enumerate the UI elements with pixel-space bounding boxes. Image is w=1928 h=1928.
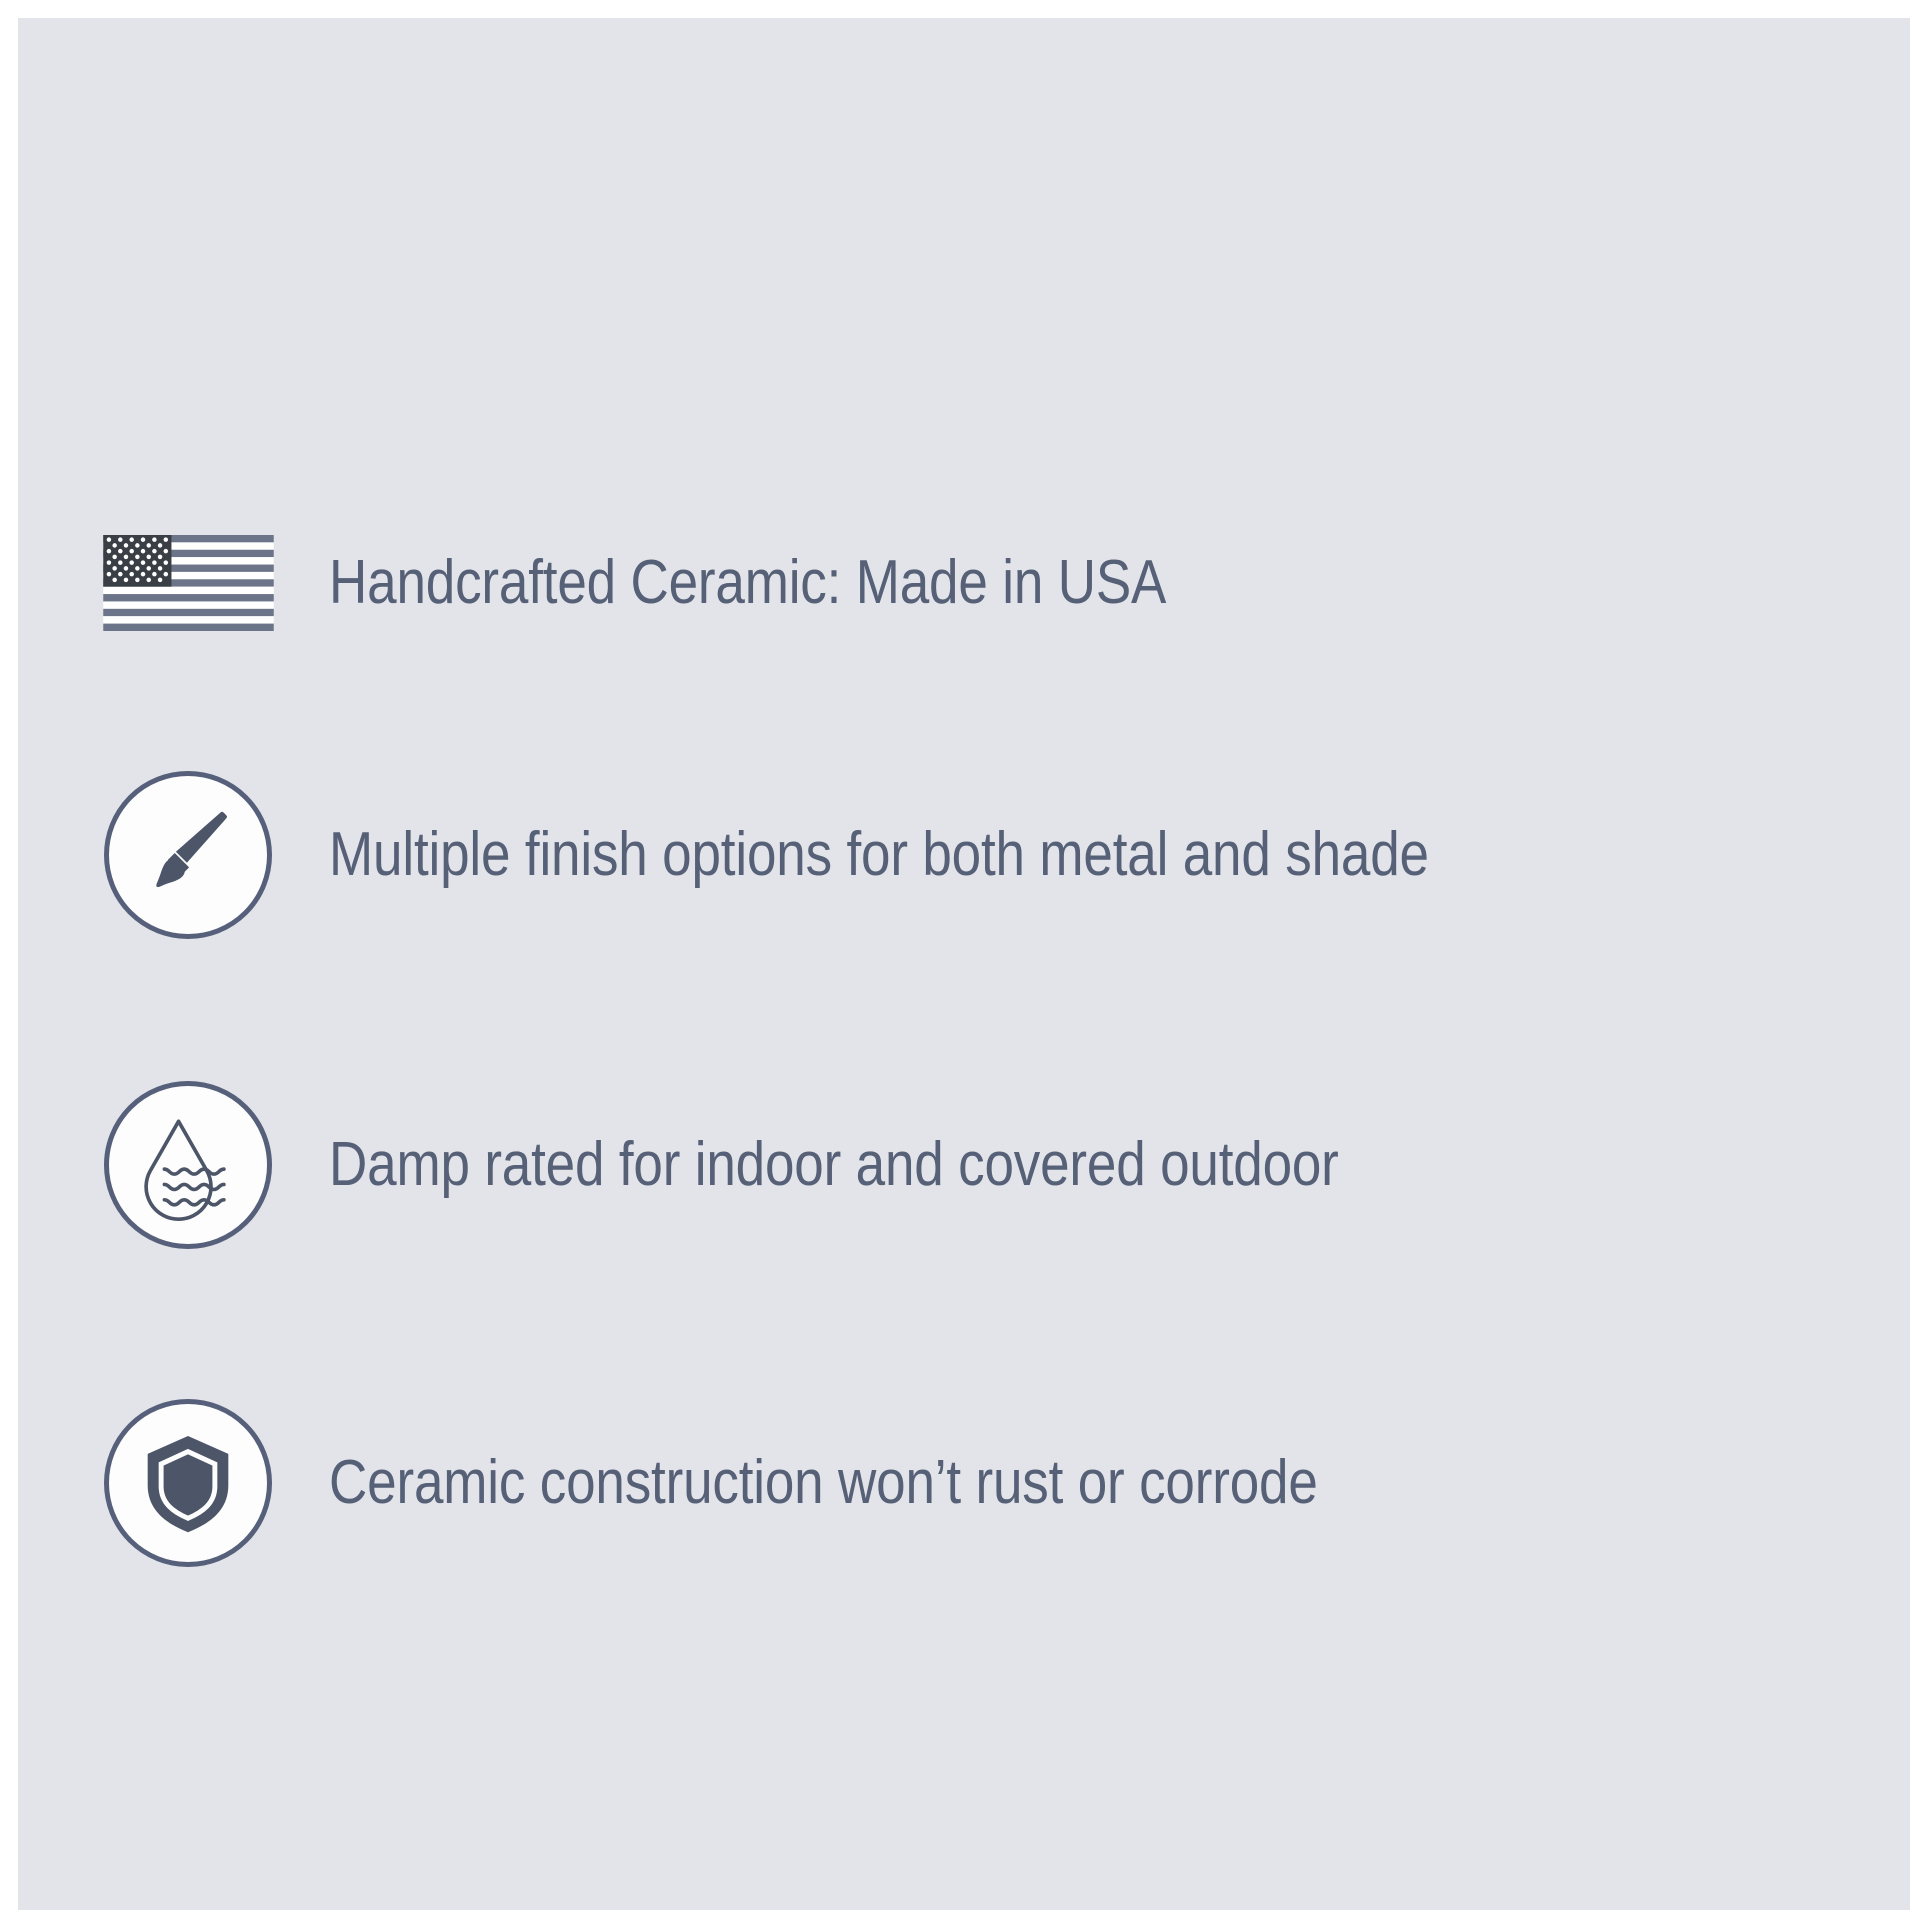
icon-circle-frame (104, 1399, 272, 1567)
feature-list: Handcrafted Ceramic: Made in USA (18, 18, 1910, 1910)
feature-row: Damp rated for indoor and covered outdoo… (88, 1070, 1517, 1260)
feature-label: Handcrafted Ceramic: Made in USA (288, 550, 1166, 615)
feature-label: Multiple finish options for both metal a… (288, 822, 1429, 887)
feature-icon-slot (88, 1388, 288, 1578)
feature-row: Multiple finish options for both metal a… (88, 760, 1622, 950)
feature-label: Damp rated for indoor and covered outdoo… (288, 1132, 1339, 1197)
feature-panel: Handcrafted Ceramic: Made in USA (18, 18, 1910, 1910)
paintbrush-icon (133, 800, 243, 910)
feature-row: Handcrafted Ceramic: Made in USA (88, 488, 1315, 678)
feature-label: Ceramic construction won’t rust or corro… (288, 1450, 1318, 1515)
icon-circle-frame (104, 1081, 272, 1249)
shield-icon (132, 1427, 244, 1539)
feature-icon-slot (88, 488, 288, 678)
us-flag-icon (103, 535, 274, 631)
icon-circle-frame (104, 771, 272, 939)
feature-row: Ceramic construction won’t rust or corro… (88, 1388, 1492, 1578)
water-drop-waves-icon (129, 1106, 247, 1224)
feature-icon-slot (88, 760, 288, 950)
feature-icon-slot (88, 1070, 288, 1260)
